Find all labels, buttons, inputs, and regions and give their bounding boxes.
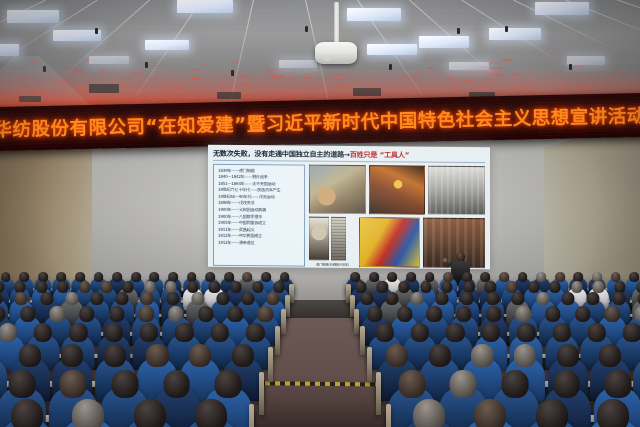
ceiling-red-reflection xyxy=(530,83,537,85)
slide-image-uprising-banner-painting xyxy=(359,217,421,267)
ceiling-red-reflection xyxy=(29,90,33,92)
audience-member-head xyxy=(65,292,78,305)
projector-body xyxy=(315,42,357,64)
auditorium-seat xyxy=(281,309,286,334)
audience-member-head xyxy=(386,344,408,367)
presenter-hand xyxy=(443,258,447,262)
audience-member-head xyxy=(545,306,560,322)
ceiling-red-reflection xyxy=(573,66,585,68)
ceiling-red-reflection xyxy=(57,81,69,83)
audience-member-head xyxy=(230,281,241,293)
audience-member-head xyxy=(588,323,606,342)
ceiling-light-panel xyxy=(419,36,469,48)
ceiling-red-reflection xyxy=(140,88,147,90)
audience-member-head xyxy=(79,281,90,293)
ceiling-red-reflection xyxy=(138,75,145,77)
audience-member-head xyxy=(112,370,139,398)
audience-member-head xyxy=(411,323,429,342)
audience-member-head xyxy=(72,399,104,427)
audience-member-head xyxy=(427,306,442,322)
audience-member-head xyxy=(198,306,213,322)
audience-member-head xyxy=(34,323,52,342)
audience-member-head xyxy=(274,281,285,293)
ceiling-grid-line xyxy=(617,0,640,38)
ceiling-red-reflection xyxy=(293,93,300,95)
ceiling-red-reflection xyxy=(479,86,485,88)
ceiling-red-reflection xyxy=(332,78,344,80)
ceiling-light-panel xyxy=(53,30,101,41)
audience-member xyxy=(62,399,115,427)
audience-member-head xyxy=(429,344,451,367)
audience-member-head xyxy=(623,323,640,342)
audience-member-head xyxy=(216,292,229,305)
audience-member-head xyxy=(20,306,35,322)
audience-member-head xyxy=(436,292,449,305)
ceiling-red-reflection xyxy=(463,80,473,82)
ceiling-red-reflection xyxy=(156,84,163,86)
slide-image-official-portrait-photo xyxy=(309,217,329,261)
audience-member-head xyxy=(456,306,471,322)
audience-member-head xyxy=(8,370,35,398)
ceiling-red-reflection xyxy=(576,83,586,85)
audience-member-head xyxy=(50,306,65,322)
audience-member-head xyxy=(571,281,582,293)
slide-title-highlight: 百姓只是 “工具人” xyxy=(350,150,409,160)
ceiling-light-panel xyxy=(0,44,19,56)
audience-member-head xyxy=(612,292,625,305)
audience-member-head xyxy=(557,344,579,367)
ceiling-red-reflection xyxy=(581,89,593,91)
ceiling-red-reflection xyxy=(447,78,454,80)
audience-member-head xyxy=(605,370,632,398)
ceiling-vent xyxy=(217,92,241,99)
ceiling-sprinkler-icon xyxy=(95,28,98,34)
projector xyxy=(313,2,359,74)
audience-member-head xyxy=(485,281,496,293)
audience-member-head xyxy=(397,306,412,322)
auditorium-seat xyxy=(259,372,264,415)
audience-member-head xyxy=(377,281,388,293)
audience-member-head xyxy=(597,399,629,427)
audience-member-head xyxy=(139,306,154,322)
audience-member-head xyxy=(461,292,474,305)
ceiling-red-reflection xyxy=(518,85,525,87)
audience-member-head xyxy=(550,281,561,293)
ceiling-red-reflection xyxy=(130,72,141,74)
audience-member-head xyxy=(486,292,499,305)
audience-member-head xyxy=(19,344,41,367)
ceiling-red-reflection xyxy=(153,77,161,79)
audience-member-head xyxy=(517,323,535,342)
ceiling-red-reflection xyxy=(135,86,138,88)
slide-image-opium-destruction-painting xyxy=(309,164,366,214)
ceiling-red-reflection xyxy=(162,82,172,84)
audience-member-head xyxy=(502,370,529,398)
audience-member-head xyxy=(104,344,126,367)
audience-member-head xyxy=(0,323,17,342)
audience-member-head xyxy=(189,344,211,367)
audience-member-head xyxy=(360,292,373,305)
ceiling-red-reflection xyxy=(240,76,249,78)
ceiling-light-panel xyxy=(535,2,589,15)
audience-member xyxy=(185,399,238,427)
ceiling-red-reflection xyxy=(335,84,343,86)
ceiling-red-reflection xyxy=(605,84,610,86)
audience-member-head xyxy=(116,292,129,305)
audience-member-head xyxy=(614,281,625,293)
ceiling-red-reflection xyxy=(502,59,513,61)
ceiling-red-reflection xyxy=(120,84,130,86)
ceiling-red-reflection xyxy=(416,71,423,73)
ceiling-sprinkler-icon xyxy=(231,70,234,76)
ceiling-red-reflection xyxy=(192,77,201,79)
ceiling-red-reflection xyxy=(270,77,280,79)
projection-screen: 无数次失败，没有走通中国独立自主的道路→百姓只是 “工具人” 1839年——虎门… xyxy=(208,145,490,269)
auditorium-seat xyxy=(268,347,273,382)
ceiling-red-reflection xyxy=(175,88,186,90)
audience-member-head xyxy=(187,281,198,293)
ceiling-red-reflection xyxy=(161,89,173,91)
ceiling-red-reflection xyxy=(483,80,491,82)
audience-member-head xyxy=(420,281,431,293)
ceiling-light-panel xyxy=(367,44,417,55)
audience-member-head xyxy=(486,306,501,322)
ceiling-red-reflection xyxy=(173,70,178,72)
audience-member-head xyxy=(634,306,640,322)
audience-member-head xyxy=(367,306,382,322)
audience-member-head xyxy=(385,292,398,305)
ceiling-red-reflection xyxy=(563,85,567,87)
audience-member-head xyxy=(398,281,409,293)
audience-member-head xyxy=(228,306,243,322)
audience-member-head xyxy=(134,399,166,427)
audience-member xyxy=(525,399,578,427)
audience-member-head xyxy=(410,292,423,305)
ceiling-sprinkler-icon xyxy=(389,64,392,70)
audience-member-head xyxy=(536,399,568,427)
audience-member-head xyxy=(511,292,524,305)
audience-member xyxy=(402,399,455,427)
auditorium-seat xyxy=(376,372,381,415)
audience-member-head xyxy=(40,292,53,305)
audience-member-head xyxy=(109,306,124,322)
audience-member-head xyxy=(242,292,255,305)
ceiling-red-reflection xyxy=(396,87,405,89)
ceiling-red-reflection xyxy=(73,71,83,73)
ceiling-vent xyxy=(353,88,381,96)
audience-member-head xyxy=(14,281,25,293)
ceiling-red-reflection xyxy=(308,74,311,76)
auditorium-seat xyxy=(367,347,372,382)
audience-member-head xyxy=(195,399,227,427)
ceiling-light-panel xyxy=(89,56,129,64)
ceiling-vent xyxy=(89,84,119,93)
audience-member-head xyxy=(506,281,517,293)
audience-member-head xyxy=(599,344,621,367)
ceiling-light-panel xyxy=(449,62,489,70)
ceiling-red-reflection xyxy=(11,93,17,95)
audience-member-head xyxy=(61,344,83,367)
ceiling-vent xyxy=(19,96,41,102)
auditorium-seat xyxy=(275,326,280,356)
audience-member-head xyxy=(101,281,112,293)
ceiling-red-reflection xyxy=(272,92,280,94)
auditorium-seat xyxy=(386,404,391,427)
ceiling-red-reflection xyxy=(75,88,87,90)
ceiling-sprinkler-icon xyxy=(457,28,460,34)
audience-member xyxy=(0,399,53,427)
audience-member-head xyxy=(246,323,264,342)
audience-member-head xyxy=(168,306,183,322)
audience-member-head xyxy=(413,399,445,427)
audience-member-head xyxy=(191,292,204,305)
slide-content: 无数次失败，没有走通中国独立自主的道路→百姓只是 “工具人” 1839年——虎门… xyxy=(208,145,490,269)
ceiling-red-reflection xyxy=(199,100,206,102)
audience-member-head xyxy=(593,281,604,293)
audience-member-head xyxy=(232,344,254,367)
slide-image-row-top xyxy=(309,164,485,215)
audience-member-head xyxy=(36,281,47,293)
ceiling-red-reflection xyxy=(490,74,503,76)
audience-member-head xyxy=(471,344,493,367)
audience-member-head xyxy=(536,292,549,305)
auditorium-seat xyxy=(354,309,359,334)
ceiling-red-reflection xyxy=(404,77,417,79)
ceiling-red-reflection xyxy=(599,66,610,68)
audience-member-head xyxy=(58,281,69,293)
audience-member xyxy=(123,399,176,427)
ceiling-red-reflection xyxy=(151,65,164,67)
ceiling-red-reflection xyxy=(291,69,294,71)
projector-lens-icon xyxy=(322,56,331,61)
ceiling-red-reflection xyxy=(299,88,311,90)
slide-image-caption: 虎门销烟 石碑拓片资料 xyxy=(309,261,356,266)
audience-member-head xyxy=(166,281,177,293)
ceiling-red-reflection xyxy=(368,85,380,87)
audience-member-head xyxy=(446,323,464,342)
ceiling-red-reflection xyxy=(139,100,143,102)
audience-member-head xyxy=(575,306,590,322)
slide-timeline-box: 1839年——虎门销烟1840—1842年——鸦片战争1851—1864年——太… xyxy=(213,163,305,266)
audience-member-head xyxy=(140,323,158,342)
ceiling-light-panel xyxy=(177,0,233,13)
slide-image-stone-stele-rubbing xyxy=(331,217,346,261)
audience-member-head xyxy=(355,281,366,293)
ceiling-red-reflection xyxy=(490,67,502,69)
ceiling-light-panel xyxy=(489,28,541,40)
ceiling-red-reflection xyxy=(336,74,349,76)
audience-member-head xyxy=(442,281,453,293)
audience-member-head xyxy=(528,281,539,293)
audience-member-head xyxy=(257,306,272,322)
audience-member-head xyxy=(104,323,122,342)
audience-member-head xyxy=(15,292,28,305)
audience-member-head xyxy=(587,292,600,305)
audience-member-head xyxy=(122,281,133,293)
ceiling-red-reflection xyxy=(428,67,434,69)
slide-image-railway-station-photo xyxy=(428,165,485,215)
ceiling-red-reflection xyxy=(266,69,277,71)
slide-timeline-item: 1912年——清帝退位 xyxy=(218,240,300,247)
audience-member-head xyxy=(474,399,506,427)
audience-member-head xyxy=(11,399,43,427)
ceiling-red-reflection xyxy=(452,83,458,85)
ceiling-red-reflection xyxy=(339,86,350,88)
audience-member-head xyxy=(398,370,425,398)
ceiling-red-reflection xyxy=(511,73,520,75)
ceiling-red-reflection xyxy=(20,78,30,80)
audience-member-head xyxy=(514,344,536,367)
audience-member-head xyxy=(605,306,620,322)
ceiling-red-reflection xyxy=(353,82,363,84)
audience-member-head xyxy=(252,281,263,293)
audience-member-head xyxy=(90,292,103,305)
audience-member-head xyxy=(267,292,280,305)
audience-member-head xyxy=(450,370,477,398)
audience-member-head xyxy=(215,370,242,398)
screenshot-root: 华纺股份有限公司“在知爱建”暨习近平新时代中国特色社会主义思想宣讲活动 无数次失… xyxy=(0,0,640,427)
audience-member-head xyxy=(463,281,474,293)
audience-member-head xyxy=(553,370,580,398)
audience-member-head xyxy=(516,306,531,322)
slide-title-plain: 无数次失败，没有走通中国独立自主的道路→ xyxy=(213,149,350,159)
ceiling-red-reflection xyxy=(21,85,26,87)
audience-member-head xyxy=(60,370,87,398)
ceiling-sprinkler-icon xyxy=(305,26,308,32)
audience-member-head xyxy=(141,292,154,305)
audience-member-head xyxy=(69,323,87,342)
ceiling-sprinkler-icon xyxy=(505,26,508,32)
ceiling-red-reflection xyxy=(308,95,319,97)
ceiling-red-reflection xyxy=(174,84,179,86)
ceiling-light-panel xyxy=(279,60,317,68)
audience-member-head xyxy=(146,344,168,367)
ceiling-light-panel xyxy=(567,56,605,65)
ceiling-red-reflection xyxy=(530,91,534,93)
ceiling-sprinkler-icon xyxy=(569,64,572,70)
ceiling-light-panel xyxy=(7,10,59,23)
audience-member xyxy=(587,399,640,427)
audience-member-head xyxy=(175,323,193,342)
audience-member-head xyxy=(166,292,179,305)
audience-member-head xyxy=(163,370,190,398)
auditorium-seat xyxy=(360,326,365,356)
ceiling-sprinkler-icon xyxy=(145,62,148,68)
ceiling-red-reflection xyxy=(243,83,251,85)
audience-member-head xyxy=(209,281,220,293)
ceiling-red-reflection xyxy=(91,96,99,98)
audience-member-head xyxy=(562,292,575,305)
audience-member xyxy=(464,399,517,427)
ceiling-red-reflection xyxy=(290,98,297,100)
audience-member-head xyxy=(144,281,155,293)
audience-member-head xyxy=(79,306,94,322)
slide-title: 无数次失败，没有走通中国独立自主的道路→百姓只是 “工具人” xyxy=(213,149,485,160)
ceiling-red-reflection xyxy=(99,69,104,71)
auditorium-seat xyxy=(249,404,254,427)
audience-member-head xyxy=(636,281,640,293)
ceiling-red-reflection xyxy=(217,88,227,90)
ceiling-red-reflection xyxy=(285,78,291,80)
slide-body: 1839年——虎门销烟1840—1842年——鸦片战争1851—1864年——太… xyxy=(213,163,485,267)
audience-member-head xyxy=(552,323,570,342)
slide-image-boxer-rebellion-painting xyxy=(369,165,426,215)
audience-member-head xyxy=(375,323,393,342)
audience-member-head xyxy=(482,323,500,342)
ceiling-light-panel xyxy=(145,40,189,50)
ceiling-sprinkler-icon xyxy=(43,66,46,72)
audience-member-head xyxy=(211,323,229,342)
